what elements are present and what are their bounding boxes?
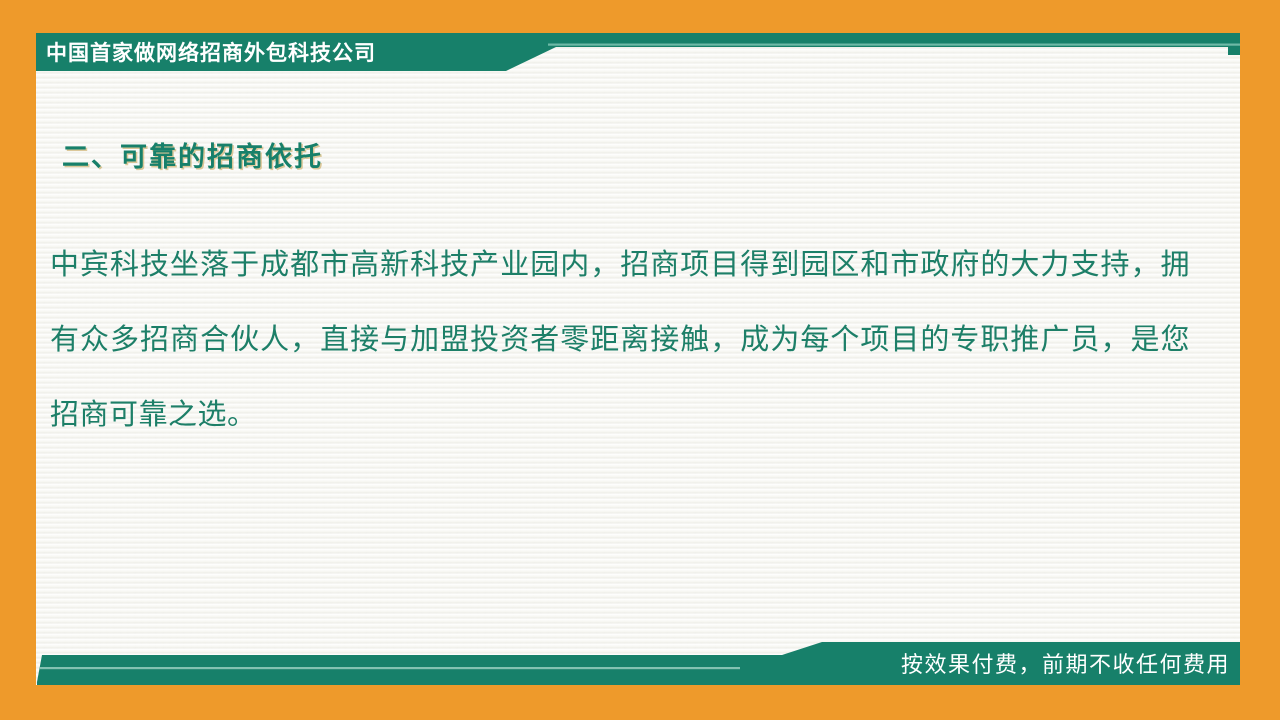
body-paragraph: 中宾科技坐落于成都市高新科技产业园内，招商项目得到园区和市政府的大力支持，拥有众…	[50, 228, 1190, 453]
section-heading: 二、可靠的招商依托	[62, 135, 323, 174]
footer-tagline: 按效果付费，前期不收任何费用	[901, 645, 1230, 681]
slide-canvas: 中国首家做网络招商外包科技公司 二、可靠的招商依托 中宾科技坐落于成都市高新科技…	[0, 0, 1280, 720]
header-title: 中国首家做网络招商外包科技公司	[46, 35, 376, 68]
